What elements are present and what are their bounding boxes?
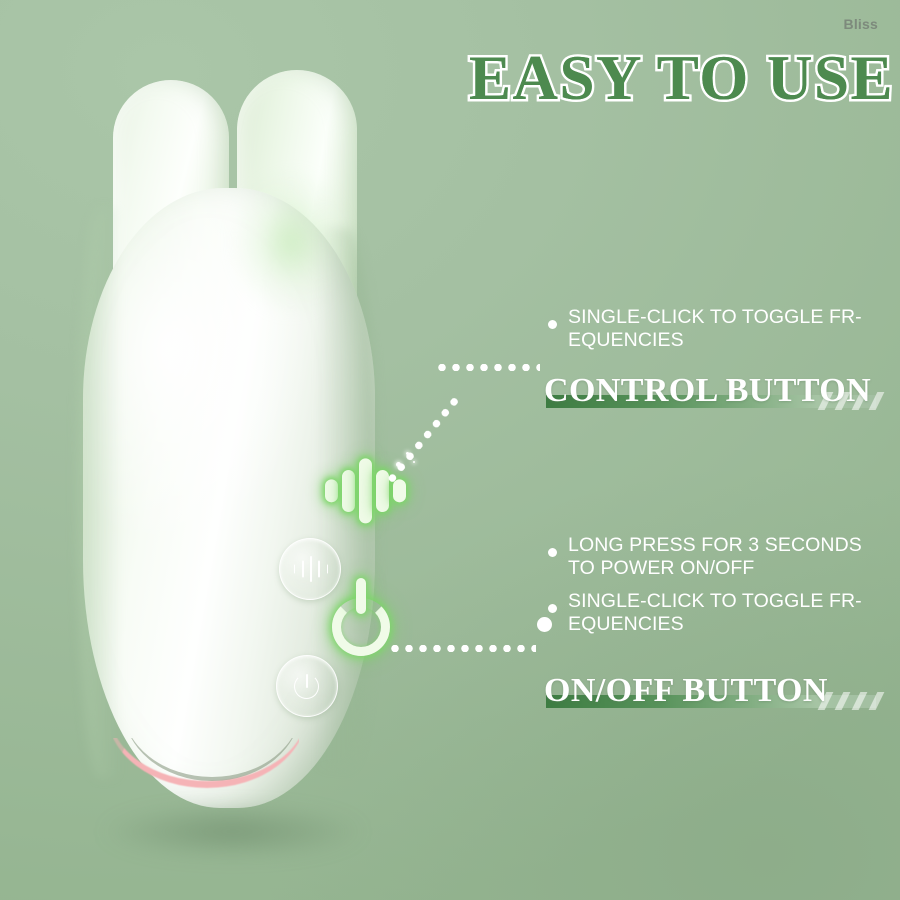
infographic-canvas: Bliss EASY TO USE EASY TO USE (0, 0, 900, 900)
heading-label: ON/OFF BUTTON (544, 672, 828, 710)
power-glow-icon (326, 576, 398, 654)
callout-heading-power: ON/OFF BUTTON (540, 664, 892, 716)
product-rose-gold-accent (113, 738, 299, 798)
bullet-text: SINGLE-CLICK TO TOGGLE FR-EQUENCIES (568, 306, 892, 352)
product-drop-shadow (63, 800, 403, 870)
sparkle-icon (413, 461, 415, 463)
list-item: SINGLE-CLICK TO TOGGLE FR-EQUENCIES (540, 306, 892, 352)
product-image (55, 58, 425, 818)
on-off-button[interactable] (276, 655, 338, 717)
bullet-icon (548, 548, 557, 557)
bullet-text: SINGLE-CLICK TO TOGGLE FR-EQUENCIES (568, 590, 892, 636)
heading-label: CONTROL BUTTON (544, 372, 871, 410)
bullet-icon (548, 604, 557, 613)
callout-control-button: SINGLE-CLICK TO TOGGLE FR-EQUENCIES CONT… (540, 306, 892, 416)
brand-watermark: Bliss (844, 16, 878, 32)
list-item: LONG PRESS FOR 3 SECONDS TO POWER ON/OFF (540, 534, 892, 580)
connector-control-horizontal (435, 364, 540, 371)
callout-heading-control: CONTROL BUTTON (540, 364, 892, 416)
callout-on-off-button: LONG PRESS FOR 3 SECONDS TO POWER ON/OFF… (540, 534, 892, 716)
product-edge-left (77, 208, 121, 778)
bullet-text: LONG PRESS FOR 3 SECONDS TO POWER ON/OFF (568, 534, 892, 580)
list-item: SINGLE-CLICK TO TOGGLE FR-EQUENCIES (540, 590, 892, 636)
bullet-icon (548, 320, 557, 329)
power-icon (277, 656, 337, 716)
page-title: EASY TO USE (382, 46, 894, 112)
waveform-glow-icon (325, 455, 403, 527)
connector-power-horizontal (388, 645, 536, 652)
